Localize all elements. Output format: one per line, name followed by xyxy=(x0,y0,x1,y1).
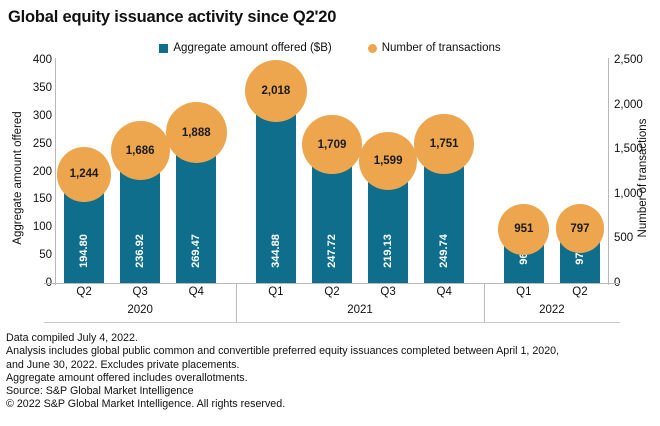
legend-circle-icon xyxy=(368,44,377,53)
footnote-line-1: Analysis includes global public common a… xyxy=(6,345,654,358)
bar-value-label: 194.80 xyxy=(78,234,90,268)
legend-item-transactions: Number of transactions xyxy=(368,42,501,54)
left-axis-title: Aggregate amount offered xyxy=(12,63,24,293)
right-axis-line xyxy=(608,58,609,285)
bubble-q3-2021[interactable]: 1,599 xyxy=(359,132,417,190)
chart-page: Global equity issuance activity since Q2… xyxy=(0,0,660,426)
footnote-line-2: and June 30, 2022. Excludes private plac… xyxy=(6,359,654,372)
quarter-label-q2-2020: Q2 xyxy=(76,286,91,298)
bubble-q2-2021[interactable]: 1,709 xyxy=(302,115,361,174)
footnote-line-5: © 2022 S&P Global Market Intelligence. A… xyxy=(6,398,654,411)
quarter-label-q1-2021: Q1 xyxy=(268,286,283,298)
bar-value-label: 269.47 xyxy=(190,234,202,268)
page-title: Global equity issuance activity since Q2… xyxy=(8,8,336,27)
bubble-q3-2020[interactable]: 1,686 xyxy=(111,121,170,180)
left-axis-tick: 100 xyxy=(33,221,52,233)
category-axis: Q2Q3Q4Q1Q2Q3Q4Q1Q2 xyxy=(56,284,608,302)
bubble-q2-2022[interactable]: 797 xyxy=(556,204,605,253)
category-axis-bottom-line xyxy=(44,322,620,323)
legend-square-icon xyxy=(159,44,168,53)
right-axis-tick: 1,500 xyxy=(614,143,643,155)
group-separator-1 xyxy=(484,284,485,322)
year-label-2020: 2020 xyxy=(127,304,153,316)
year-label-2022: 2022 xyxy=(539,304,565,316)
bubble-q4-2021[interactable]: 1,751 xyxy=(414,114,474,174)
bubble-q2-2020[interactable]: 1,244 xyxy=(57,147,111,201)
quarter-label-q1-2022: Q1 xyxy=(516,286,531,298)
year-label-2021: 2021 xyxy=(347,304,373,316)
chart-legend: Aggregate amount offered ($B) Number of … xyxy=(0,40,660,56)
footnotes: Data compiled July 4, 2022.Analysis incl… xyxy=(6,332,654,412)
bar-value-label: 344.88 xyxy=(270,234,282,268)
plot-area: 194.801,244236.921,686269.471,888344.882… xyxy=(56,60,608,283)
quarter-label-q2-2021: Q2 xyxy=(324,286,339,298)
quarter-label-q3-2021: Q3 xyxy=(380,286,395,298)
bar-value-label: 219.13 xyxy=(382,234,394,268)
left-axis-tick: 350 xyxy=(33,82,52,94)
quarter-label-q4-2020: Q4 xyxy=(189,286,204,298)
bubble-q1-2021[interactable]: 2,018 xyxy=(245,60,307,122)
left-axis-tick: 150 xyxy=(33,193,52,205)
bar-value-label: 247.72 xyxy=(326,234,338,268)
left-axis-tick: 400 xyxy=(33,54,52,66)
right-axis-tick: 2,000 xyxy=(614,99,643,111)
quarter-label-q3-2020: Q3 xyxy=(132,286,147,298)
right-axis-tick: 1,000 xyxy=(614,188,643,200)
legend-label-aggregate-amount: Aggregate amount offered ($B) xyxy=(173,42,331,54)
year-axis: 202020212022 xyxy=(56,303,608,323)
left-axis-tick: 300 xyxy=(33,110,52,122)
footnote-line-0: Data compiled July 4, 2022. xyxy=(6,332,654,345)
bubble-q4-2020[interactable]: 1,888 xyxy=(166,102,227,163)
legend-item-aggregate-amount: Aggregate amount offered ($B) xyxy=(159,42,331,54)
right-axis-tick: 2,500 xyxy=(614,54,643,66)
left-axis-tick: 200 xyxy=(33,166,52,178)
group-separator-0 xyxy=(236,284,237,322)
left-axis-tick: 250 xyxy=(33,138,52,150)
footnote-line-3: Aggregate amount offered includes overal… xyxy=(6,372,654,385)
footnote-line-4: Source: S&P Global Market Intelligence xyxy=(6,385,654,398)
left-axis-tick: 50 xyxy=(39,249,52,261)
right-axis-tick: 500 xyxy=(614,232,633,244)
bar-value-label: 236.92 xyxy=(134,234,146,268)
bar-value-label: 249.74 xyxy=(438,234,450,268)
quarter-label-q4-2021: Q4 xyxy=(437,286,452,298)
legend-label-transactions: Number of transactions xyxy=(382,42,501,54)
quarter-label-q2-2022: Q2 xyxy=(572,286,587,298)
right-axis-title: Number of transactions xyxy=(637,63,649,293)
bubble-q1-2022[interactable]: 951 xyxy=(498,204,549,255)
